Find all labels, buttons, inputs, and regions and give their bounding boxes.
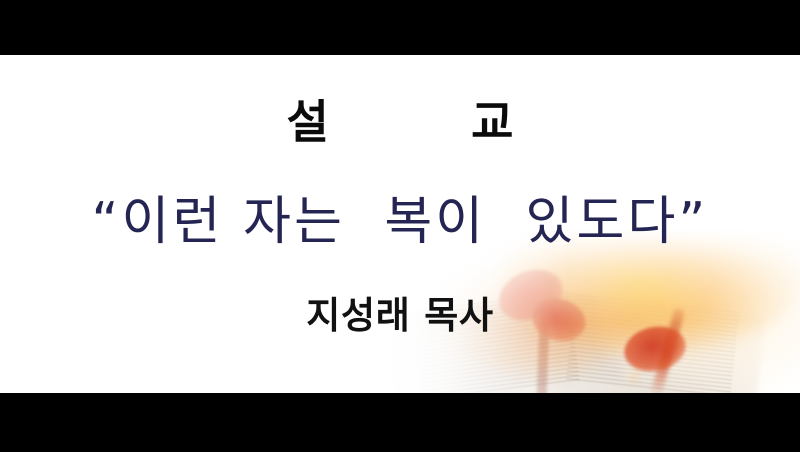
slide-heading: 설 교 xyxy=(0,99,800,145)
slide-speaker-name: 지성래 목사 xyxy=(0,297,800,334)
slide-quote-title: “이런 자는 복이 있도다” xyxy=(0,195,800,250)
slide-text-layer: 설 교 “이런 자는 복이 있도다” 지성래 목사 xyxy=(0,55,800,393)
sermon-title-slide: 설 교 “이런 자는 복이 있도다” 지성래 목사 xyxy=(0,0,800,452)
slide-canvas: 설 교 “이런 자는 복이 있도다” 지성래 목사 xyxy=(0,55,800,393)
letterbox-bar-top xyxy=(0,0,800,55)
letterbox-bar-bottom xyxy=(0,393,800,452)
